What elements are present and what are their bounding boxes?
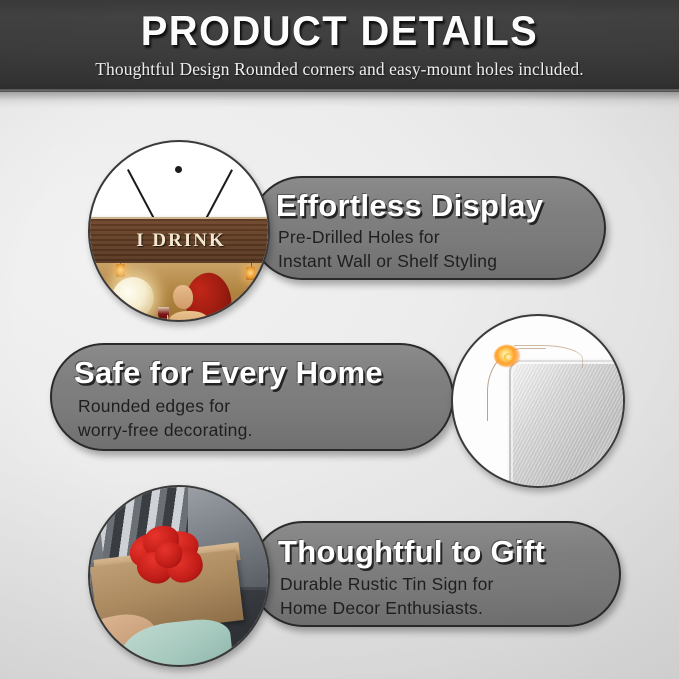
corner-arc-trace-top — [514, 345, 583, 368]
page-title: PRODUCT DETAILS — [17, 8, 662, 54]
red-bow-icon — [129, 526, 204, 579]
woman-face-graphic — [173, 285, 193, 309]
feature-subtitle-thoughtful-to-gift: Durable Rustic Tin Sign for Home Decor E… — [280, 573, 494, 620]
tin-sign-plate: I DRINK — [90, 217, 268, 320]
tin-sign-artwork — [90, 263, 268, 320]
feature-image-gift-box — [88, 485, 270, 667]
feature-pill-safe-for-every-home: Safe for Every Home Rounded edges for wo… — [50, 343, 454, 451]
feature-pill-effortless-display: Effortless Display Pre-Drilled Holes for… — [250, 176, 606, 280]
header-shadow — [0, 92, 679, 108]
hanging-cord-knob — [175, 166, 182, 173]
header-subtitle: Thoughtful Design Rounded corners and ea… — [0, 58, 679, 80]
feature-image-hanging-tin-sign: I DRINK — [88, 140, 270, 322]
feature-subtitle-safe-for-every-home: Rounded edges for worry-free decorating. — [78, 395, 253, 442]
tin-sign-banner: I DRINK — [90, 219, 268, 265]
feature-title-safe-for-every-home: Safe for Every Home — [74, 355, 383, 391]
feature-image-rounded-corner — [451, 314, 625, 488]
tin-sign-illustration: I DRINK — [90, 142, 268, 320]
wine-glass-stem — [167, 315, 169, 320]
lantern-icon-left — [116, 264, 125, 277]
product-details-infographic: PRODUCT DETAILS Thoughtful Design Rounde… — [0, 0, 679, 679]
feature-title-effortless-display: Effortless Display — [276, 188, 543, 224]
feature-subtitle-effortless-display: Pre-Drilled Holes for Instant Wall or Sh… — [278, 226, 497, 273]
moon-graphic — [112, 277, 154, 319]
header-banner: PRODUCT DETAILS Thoughtful Design Rounde… — [0, 0, 679, 92]
lantern-icon-right — [246, 267, 255, 280]
tin-sign-text: I DRINK — [136, 230, 225, 252]
feature-pill-thoughtful-to-gift: Thoughtful to Gift Durable Rustic Tin Si… — [250, 521, 621, 627]
feature-title-thoughtful-to-gift: Thoughtful to Gift — [278, 534, 545, 570]
